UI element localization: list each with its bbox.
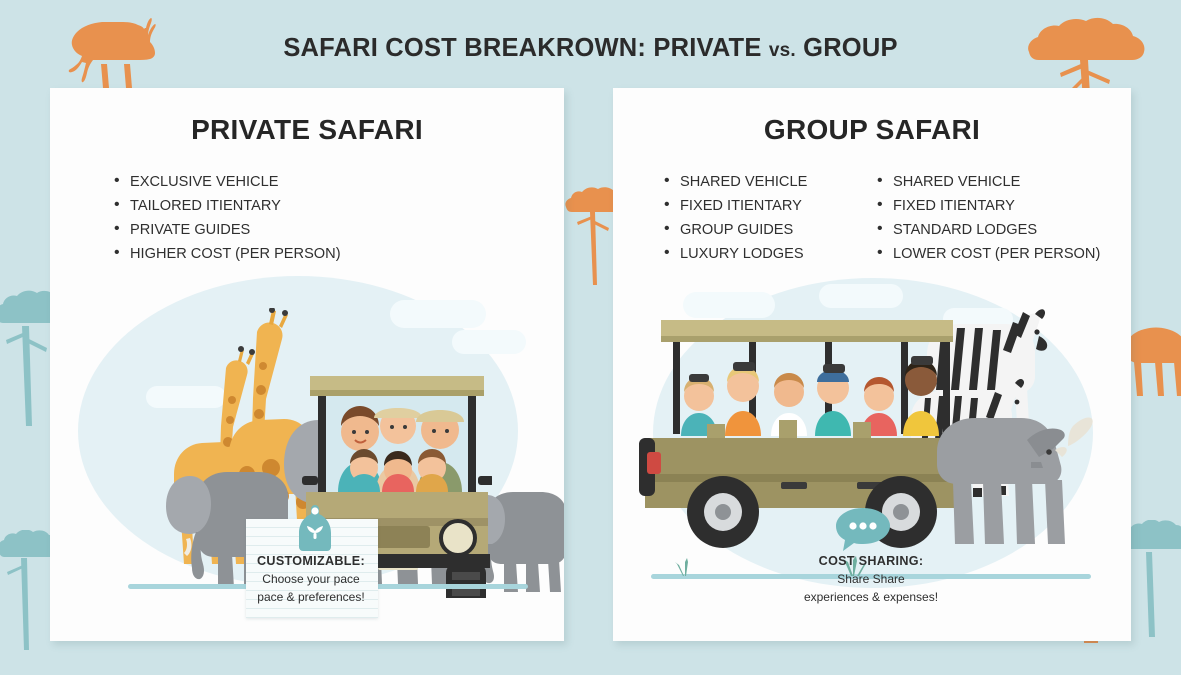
private-callout-line1: Choose your pace bbox=[262, 572, 359, 586]
private-feature-list: EXCLUSIVE VEHICLE TAILORED ITIENTARY PRI… bbox=[112, 170, 341, 266]
cloud-shape bbox=[452, 330, 526, 354]
page-title-part2: GROUP bbox=[803, 34, 898, 62]
private-callout-line2: pace & preferences! bbox=[257, 590, 364, 604]
list-item: LOWER COST (PER PERSON) bbox=[875, 242, 1100, 266]
list-item: SHARED VEHICLE bbox=[875, 170, 1100, 194]
cloud-shape bbox=[819, 284, 903, 308]
list-item: STANDARD LODGES bbox=[875, 218, 1100, 242]
private-card-title: PRIVATE SAFARI bbox=[50, 114, 564, 146]
group-safari-truck-illustration bbox=[631, 306, 971, 576]
list-item: TAILORED ITIENTARY bbox=[112, 194, 341, 218]
list-item: FIXED ITIENTARY bbox=[662, 194, 807, 218]
list-item: GROUP GUIDES bbox=[662, 218, 807, 242]
list-item: HIGHER COST (PER PERSON) bbox=[112, 242, 341, 266]
rhino-illustration bbox=[931, 410, 1096, 550]
group-callout-line2: experiences & expenses! bbox=[804, 590, 938, 604]
list-item: LUXURY LODGES bbox=[662, 242, 807, 266]
infographic-canvas: SAFARI COST BREAKROWN: PRIVATE vs. GROUP… bbox=[0, 0, 1181, 675]
page-title: SAFARI COST BREAKROWN: PRIVATE vs. GROUP bbox=[0, 34, 1181, 63]
tag-icon bbox=[292, 505, 338, 553]
page-title-part1: SAFARI COST BREAKROWN: PRIVATE bbox=[283, 34, 761, 62]
group-feature-list-left: SHARED VEHICLE FIXED ITIENTARY GROUP GUI… bbox=[662, 170, 807, 266]
list-item: PRIVATE GUIDES bbox=[112, 218, 341, 242]
list-item: EXCLUSIVE VEHICLE bbox=[112, 170, 341, 194]
group-feature-list-right: SHARED VEHICLE FIXED ITIENTARY STANDARD … bbox=[875, 170, 1100, 266]
group-card-title: GROUP SAFARI bbox=[613, 114, 1131, 146]
group-callout-line1: Share Share bbox=[837, 572, 904, 586]
list-item: SHARED VEHICLE bbox=[662, 170, 807, 194]
private-callout-caption: CUSTOMIZABLE: bbox=[181, 552, 441, 570]
acacia-tree-silhouette bbox=[0, 530, 56, 655]
page-title-vs: vs. bbox=[769, 40, 796, 61]
grass-tuft-icon bbox=[673, 558, 699, 576]
speech-bubble-icon bbox=[834, 506, 892, 554]
group-callout-caption: COST SHARING: bbox=[741, 552, 1001, 570]
cloud-shape bbox=[390, 300, 486, 328]
private-callout-text: CUSTOMIZABLE: Choose your pace pace & pr… bbox=[181, 552, 441, 606]
list-item: FIXED ITIENTARY bbox=[875, 194, 1100, 218]
group-callout-text: COST SHARING: Share Share experiences & … bbox=[741, 552, 1001, 606]
